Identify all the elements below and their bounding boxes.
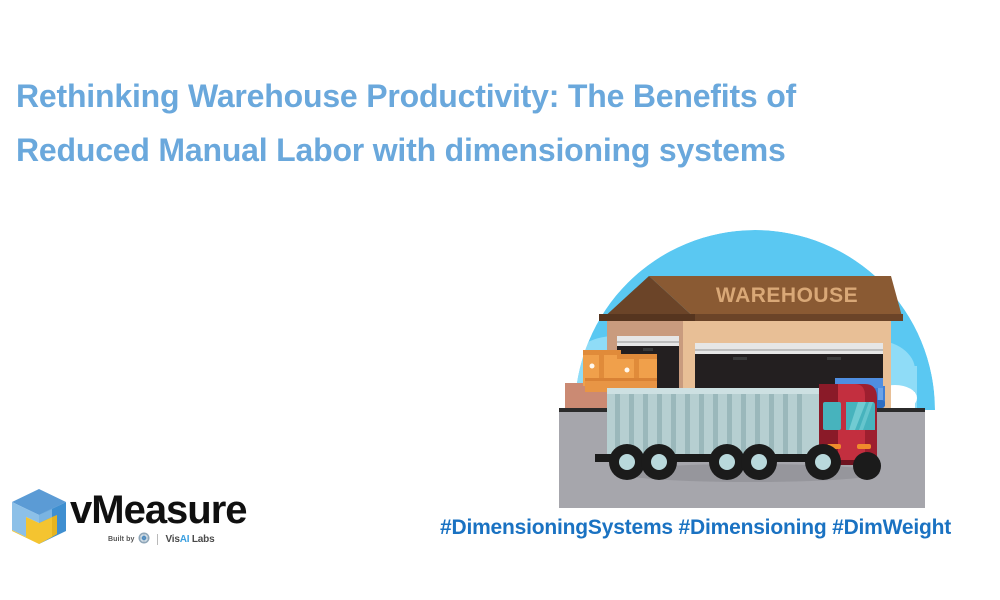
built-by-divider	[157, 534, 158, 545]
partner-name-post: Labs	[189, 534, 214, 545]
hashtag-line: #DimensioningSystems #Dimensioning #DimW…	[440, 516, 951, 540]
vmeasure-cube-icon	[8, 487, 70, 551]
headline-line-2: Reduced Manual Labor with dimensioning s…	[16, 123, 896, 177]
partner-name-mid: AI	[180, 534, 190, 545]
page-title: Rethinking Warehouse Productivity: The B…	[16, 69, 896, 177]
banner-canvas: Rethinking Warehouse Productivity: The B…	[0, 0, 1000, 600]
built-by-credit: Built by VisAI Labs	[108, 532, 214, 546]
delivery-truck	[595, 384, 881, 480]
warehouse-illustration: WAREHOUSE	[555, 178, 955, 508]
warehouse-sign-text: WAREHOUSE	[716, 284, 858, 307]
visai-globe-icon	[138, 532, 150, 546]
headlamp-right	[857, 444, 871, 449]
built-by-label: Built by	[108, 536, 134, 543]
cab-side-window	[823, 402, 841, 430]
headline-line-1: Rethinking Warehouse Productivity: The B…	[16, 69, 896, 123]
partner-name: VisAI Labs	[165, 534, 214, 545]
partner-name-pre: Vis	[165, 534, 179, 545]
vmeasure-wordmark: vMeasure	[70, 488, 247, 532]
vmeasure-logo[interactable]: vMeasure Built by VisAI Labs	[8, 487, 258, 555]
